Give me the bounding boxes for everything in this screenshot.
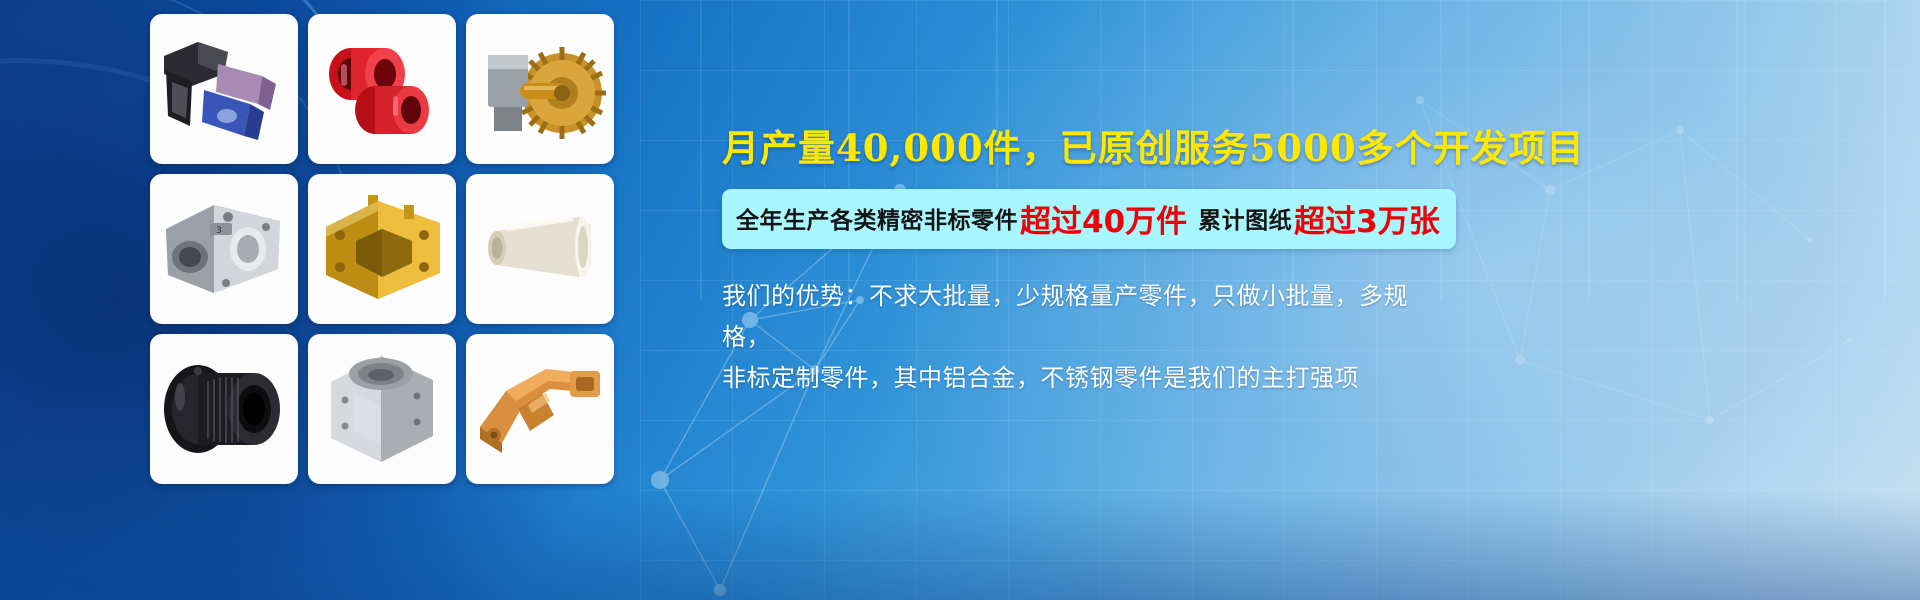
product-gallery: 3 xyxy=(150,14,620,486)
brass-worm-gear-assembly-image xyxy=(474,33,606,145)
highlight-strip: 全年生产各类精密非标零件 超过40万件 累计图纸 超过3万张 xyxy=(722,189,1456,249)
gallery-item-brass-worm-gear-assembly[interactable] xyxy=(466,14,614,164)
copper-bracket-arm-image xyxy=(472,357,608,461)
banner-text-column: 月产量40,000件，已原创服务5000多个开发项目 全年生产各类精密非标零件 … xyxy=(722,128,1852,399)
anodized-aluminum-brackets-image xyxy=(158,30,290,148)
highlight-red-2: 超过3万张 xyxy=(1294,196,1440,241)
svg-text:3: 3 xyxy=(216,226,222,236)
banner-paragraph-line-2: 非标定制零件，其中铝合金，不锈钢零件是我们的主打强项 xyxy=(722,358,1422,399)
black-knurled-hub-image xyxy=(156,353,292,465)
promo-banner: 3 xyxy=(0,0,1920,600)
banner-paragraph: 我们的优势：不求大批量，少规格量产零件，只做小批量，多规格， 非标定制零件，其中… xyxy=(722,276,1422,400)
gold-anodized-frame-image xyxy=(316,191,448,307)
highlight-text-middle: 累计图纸 xyxy=(1198,201,1292,235)
gallery-item-machined-housing-block[interactable]: 3 xyxy=(150,174,298,324)
red-anodized-cylinders-image xyxy=(315,34,449,144)
machined-housing-block-image: 3 xyxy=(156,191,292,307)
banner-paragraph-line-1: 我们的优势：不求大批量，少规格量产零件，只做小批量，多规格， xyxy=(722,276,1422,359)
bottom-fade-overlay xyxy=(0,490,1920,600)
gallery-item-white-plastic-tube[interactable] xyxy=(466,174,614,324)
gallery-item-anodized-aluminum-brackets[interactable] xyxy=(150,14,298,164)
gallery-item-red-anodized-cylinders[interactable] xyxy=(308,14,456,164)
gallery-item-black-knurled-hub[interactable] xyxy=(150,334,298,484)
banner-headline: 月产量40,000件，已原创服务5000多个开发项目 xyxy=(722,128,1852,169)
highlight-red-1: 超过40万件 xyxy=(1020,196,1187,241)
gallery-item-aluminum-cube-cavity[interactable] xyxy=(308,334,456,484)
gallery-item-gold-anodized-frame[interactable] xyxy=(308,174,456,324)
aluminum-cube-cavity-image xyxy=(317,348,447,470)
gallery-item-copper-bracket-arm[interactable] xyxy=(466,334,614,484)
white-plastic-tube-image xyxy=(473,203,607,295)
highlight-text-before: 全年生产各类精密非标零件 xyxy=(736,201,1018,235)
